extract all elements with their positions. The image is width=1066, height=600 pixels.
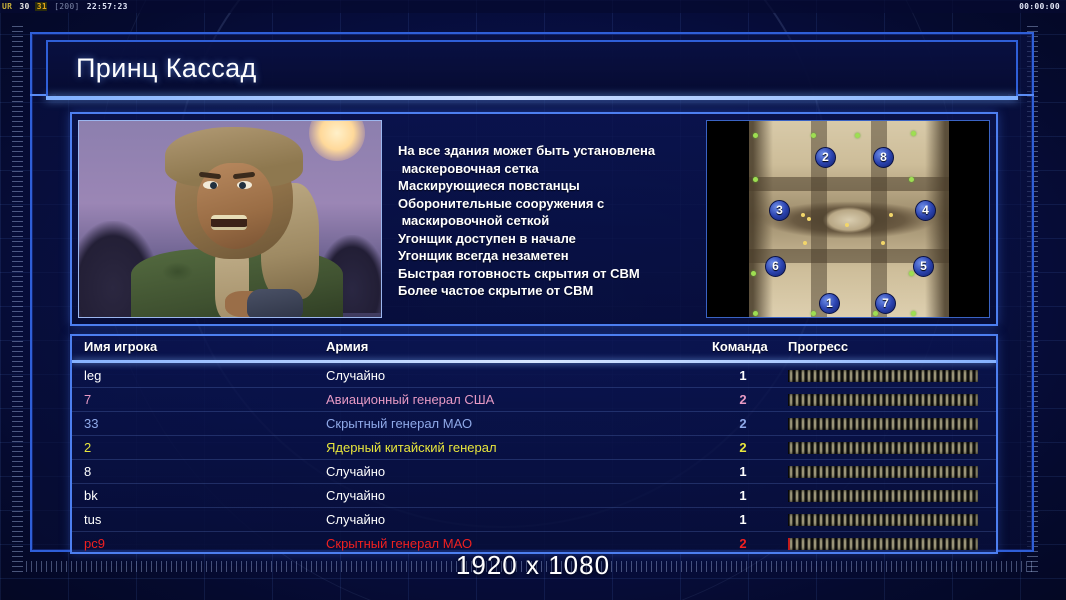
progress-bar — [788, 370, 978, 382]
cell-army[interactable]: Случайно — [326, 464, 385, 479]
minimap-supply-11 — [873, 311, 878, 316]
table-row[interactable]: 2Ядерный китайский генерал2 — [72, 436, 996, 460]
cell-player-name: leg — [84, 368, 101, 383]
cell-army[interactable]: Ядерный китайский генерал — [326, 440, 497, 455]
minimap-supply-6 — [909, 177, 914, 182]
cell-player-name: pc9 — [84, 536, 105, 551]
minimap-resource-4 — [889, 213, 893, 217]
cell-team[interactable]: 2 — [732, 440, 754, 455]
game-lobby-screen: UR 30 31 [200] 22:57:23 00:00:00 Принц К… — [0, 0, 1066, 600]
general-info-panel: На все здания может быть установлена мас… — [70, 112, 998, 326]
status-bracket: [200] — [52, 2, 80, 11]
table-row[interactable]: 7Авиационный генерал США2 — [72, 388, 996, 412]
minimap-band-h1 — [749, 177, 949, 191]
cell-player-name: 7 — [84, 392, 91, 407]
cell-army[interactable]: Случайно — [326, 488, 385, 503]
minimap-supply-8 — [909, 271, 914, 276]
minimap-preview: 28346517 — [749, 121, 949, 318]
cell-player-name: 33 — [84, 416, 98, 431]
minimap-resource-5 — [803, 241, 807, 245]
cell-player-name: tus — [84, 512, 101, 527]
minimap-supply-4 — [911, 131, 916, 136]
progress-bar — [788, 490, 978, 502]
progress-bar — [788, 418, 978, 430]
portrait-pupil-right — [239, 182, 246, 189]
description-line: Угонщик всегда незаметен — [398, 247, 694, 265]
cell-progress — [788, 442, 978, 454]
description-line: На все здания может быть установлена — [398, 142, 694, 160]
progress-bar — [788, 466, 978, 478]
description-line: маскеровочная сетка — [398, 160, 694, 178]
table-header-divider — [72, 360, 996, 363]
cell-player-name: 8 — [84, 464, 91, 479]
description-line: Более частое скрытие от СВМ — [398, 282, 694, 300]
cell-progress — [788, 514, 978, 526]
resolution-overlay: 1920 x 1080 — [0, 550, 1066, 581]
portrait-teapot — [247, 289, 303, 318]
portrait-sun — [309, 120, 365, 161]
description-line: Оборонительные сооружения с — [398, 195, 694, 213]
table-row[interactable]: 8Случайно1 — [72, 460, 996, 484]
ruler-left — [12, 26, 23, 574]
progress-bar — [788, 514, 978, 526]
cell-team[interactable]: 1 — [732, 464, 754, 479]
minimap-start-position[interactable]: 4 — [915, 200, 936, 221]
status-clock: 22:57:23 — [85, 2, 128, 11]
cell-player-name: bk — [84, 488, 98, 503]
cell-army[interactable]: Авиационный генерал США — [326, 392, 494, 407]
cell-army[interactable]: Случайно — [326, 368, 385, 383]
minimap-resource-3 — [845, 223, 849, 227]
table-row[interactable]: tusСлучайно1 — [72, 508, 996, 532]
minimap-start-position[interactable]: 5 — [913, 256, 934, 277]
progress-bar — [788, 442, 978, 454]
table-row[interactable]: 33Скрытный генерал МАО2 — [72, 412, 996, 436]
minimap-resource-6 — [881, 241, 885, 245]
minimap-supply-7 — [751, 271, 756, 276]
general-portrait — [78, 120, 382, 318]
minimap-supply-2 — [811, 133, 816, 138]
table-row[interactable]: legСлучайно1 — [72, 364, 996, 388]
cell-progress — [788, 418, 978, 430]
minimap-supply-9 — [753, 311, 758, 316]
description-line: маскировочной сеткой — [398, 212, 694, 230]
column-header-army: Армия — [326, 339, 368, 354]
cell-army[interactable]: Скрытный генерал МАО — [326, 416, 472, 431]
minimap-supply-10 — [811, 311, 816, 316]
column-header-player: Имя игрока — [84, 339, 157, 354]
cell-team[interactable]: 2 — [732, 536, 754, 551]
status-value-2: 31 — [35, 2, 47, 11]
column-header-progress: Прогресс — [788, 339, 848, 354]
table-body: legСлучайно17Авиационный генерал США233С… — [72, 364, 996, 554]
cell-progress — [788, 394, 978, 406]
page-title: Принц Кассад — [76, 53, 257, 84]
minimap-container: 28346517 — [706, 120, 990, 318]
description-line: Маскирующиеся повстанцы — [398, 177, 694, 195]
cell-team[interactable]: 2 — [732, 392, 754, 407]
cell-progress — [788, 466, 978, 478]
portrait-mouth — [211, 215, 247, 230]
minimap-start-position[interactable]: 6 — [765, 256, 786, 277]
table-row[interactable]: bkСлучайно1 — [72, 484, 996, 508]
status-tag: UR — [0, 2, 12, 11]
minimap-start-position[interactable]: 2 — [815, 147, 836, 168]
minimap-start-position[interactable]: 7 — [875, 293, 896, 314]
table-header-row: Имя игрока Армия Команда Прогресс — [72, 336, 996, 360]
cell-progress — [788, 370, 978, 382]
cell-team[interactable]: 1 — [732, 368, 754, 383]
description-line: Быстрая готовность скрытия от СВМ — [398, 265, 694, 283]
player-table: Имя игрока Армия Команда Прогресс legСлу… — [70, 334, 998, 554]
status-right-clock: 00:00:00 — [1019, 0, 1060, 13]
minimap-start-position[interactable]: 1 — [819, 293, 840, 314]
progress-bar — [788, 394, 978, 406]
minimap-supply-3 — [855, 133, 860, 138]
cell-team[interactable]: 1 — [732, 512, 754, 527]
minimap-start-position[interactable]: 3 — [769, 200, 790, 221]
minimap-resource-2 — [807, 217, 811, 221]
status-value-1: 30 — [17, 2, 29, 11]
minimap-start-position[interactable]: 8 — [873, 147, 894, 168]
minimap-resource-1 — [801, 213, 805, 217]
cell-team[interactable]: 1 — [732, 488, 754, 503]
minimap-supply-12 — [911, 311, 916, 316]
progress-bar — [788, 538, 978, 550]
cell-progress — [788, 490, 978, 502]
minimap-supply-5 — [753, 177, 758, 182]
cell-player-name: 2 — [84, 440, 91, 455]
portrait-pupil-left — [210, 182, 217, 189]
status-bar: UR 30 31 [200] 22:57:23 00:00:00 — [0, 0, 1066, 13]
description-line: Угонщик доступен в начале — [398, 230, 694, 248]
column-header-team: Команда — [712, 339, 768, 354]
cell-team[interactable]: 2 — [732, 416, 754, 431]
cell-progress — [788, 538, 978, 550]
title-divider — [46, 96, 1018, 100]
cell-army[interactable]: Скрытный генерал МАО — [326, 536, 472, 551]
minimap-supply-1 — [753, 133, 758, 138]
general-description: На все здания может быть установлена мас… — [398, 142, 694, 300]
title-band: Принц Кассад — [46, 40, 1018, 96]
cell-army[interactable]: Случайно — [326, 512, 385, 527]
